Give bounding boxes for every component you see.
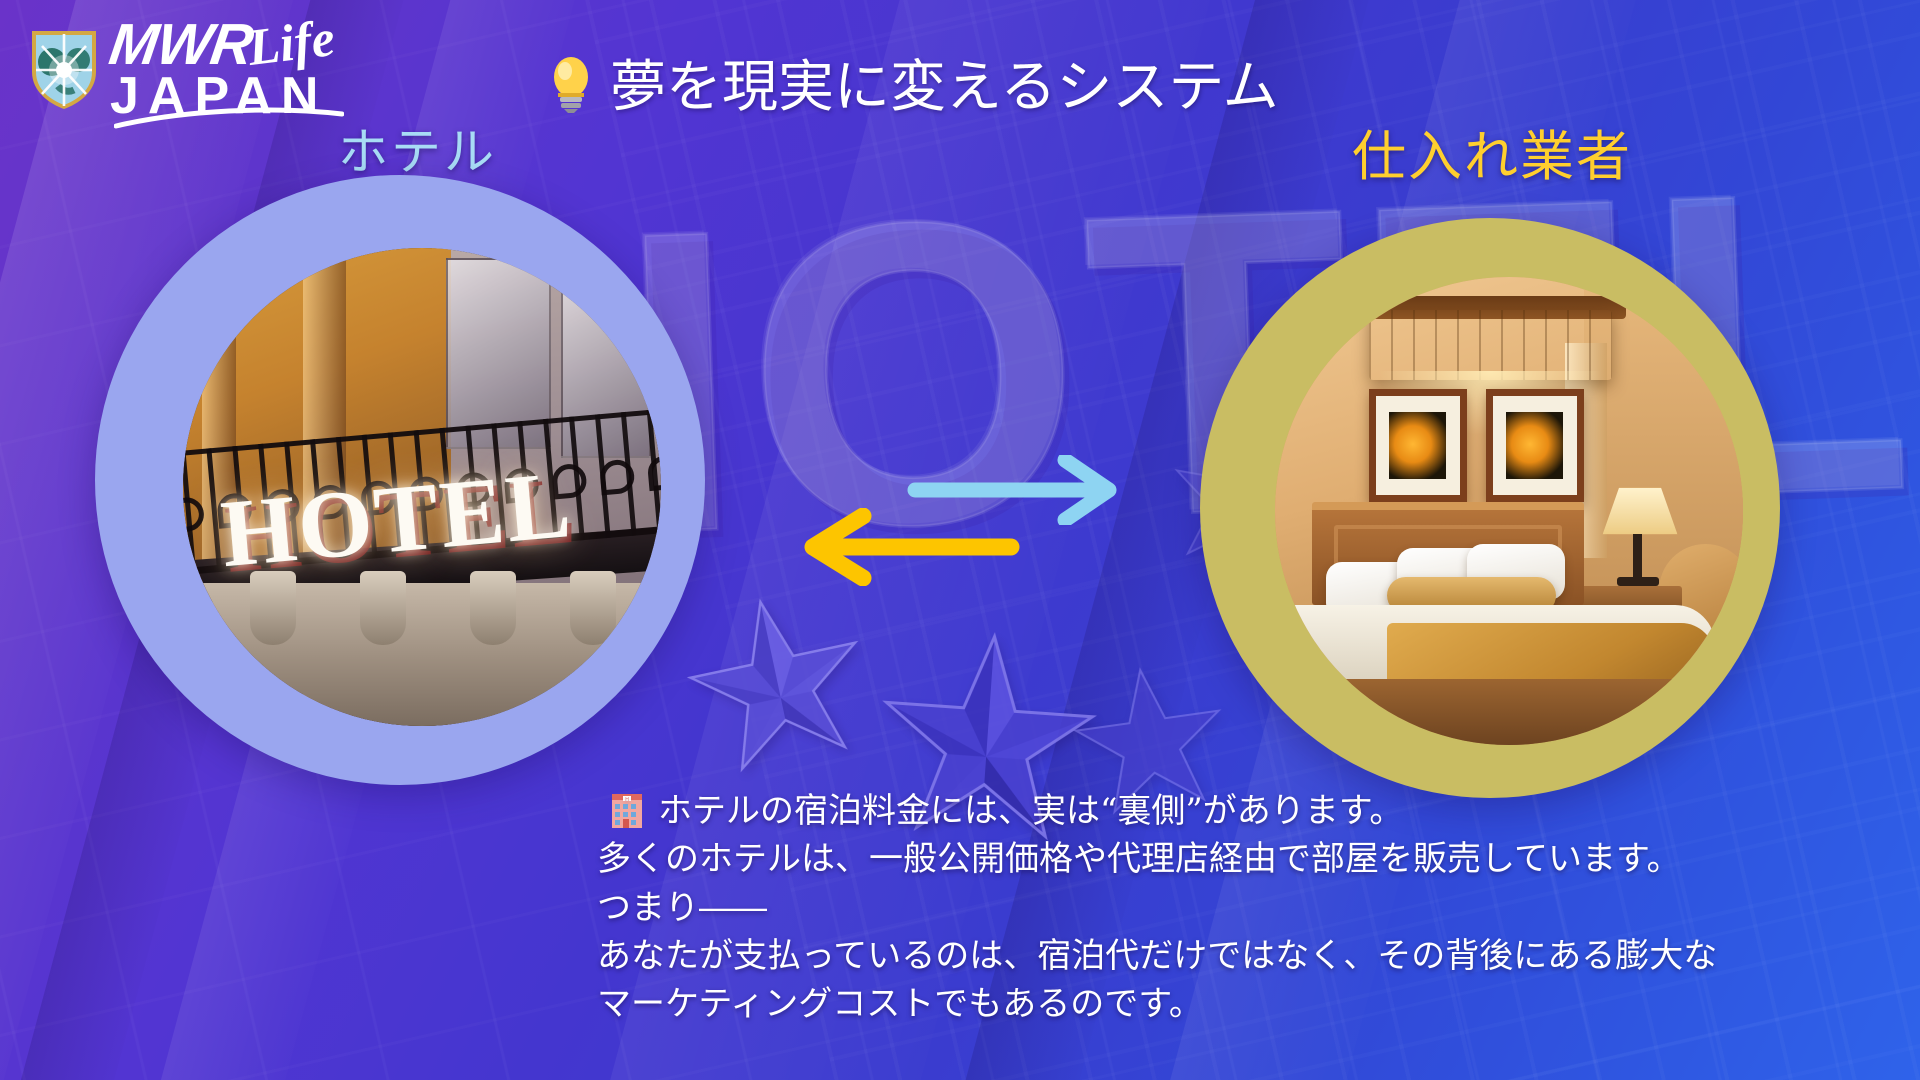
- svg-text:H: H: [625, 797, 629, 803]
- hotel-circle-ring: HOTEL: [95, 175, 705, 785]
- headline-text: 夢を現実に変えるシステム: [610, 42, 1279, 123]
- lightbulb-icon: [548, 53, 594, 113]
- logo-swoosh-icon: [114, 104, 344, 130]
- logo-mwr-text: MWR: [106, 18, 255, 71]
- decorative-star-icon: [674, 579, 882, 787]
- label-supplier: 仕入れ業者: [1352, 112, 1632, 191]
- brand-logo: MWR Life JAPAN: [28, 18, 335, 121]
- body-line-row: H ホテルの宿泊料金には、実は“裏側”があります。: [597, 787, 1897, 835]
- slide-root: HOTEL: [0, 0, 1920, 1080]
- arrow-left-gold: [795, 508, 1025, 586]
- globe-shield-icon: [28, 26, 100, 112]
- body-line-text: あなたが支払っているのは、宿泊代だけではなく、その背後にある膨大な: [597, 932, 1897, 980]
- body-line-text: ホテルの宿泊料金には、実は“裏側”があります。: [658, 787, 1403, 835]
- supplier-circle-ring: [1200, 218, 1780, 798]
- label-hotel: ホテル: [338, 112, 497, 184]
- body-line-text: 多くのホテルは、一般公開価格や代理店経由で部屋を販売しています。: [597, 835, 1897, 883]
- body-text-block: H ホテルの宿泊料金には、実は“裏側”があります。 多くのホテルは、一般公開価格…: [597, 787, 1897, 1028]
- hotel-bedroom-interior-photo: [1275, 277, 1743, 745]
- logo-life-text: Life: [245, 14, 337, 72]
- hotel-exterior-neon-sign-photo: HOTEL: [183, 248, 661, 726]
- body-line-text: つまり――: [597, 884, 1897, 932]
- body-line-text: マーケティングコストでもあるのです。: [597, 980, 1897, 1028]
- headline: 夢を現実に変えるシステム: [548, 42, 1279, 123]
- hotel-building-icon: H: [610, 792, 644, 830]
